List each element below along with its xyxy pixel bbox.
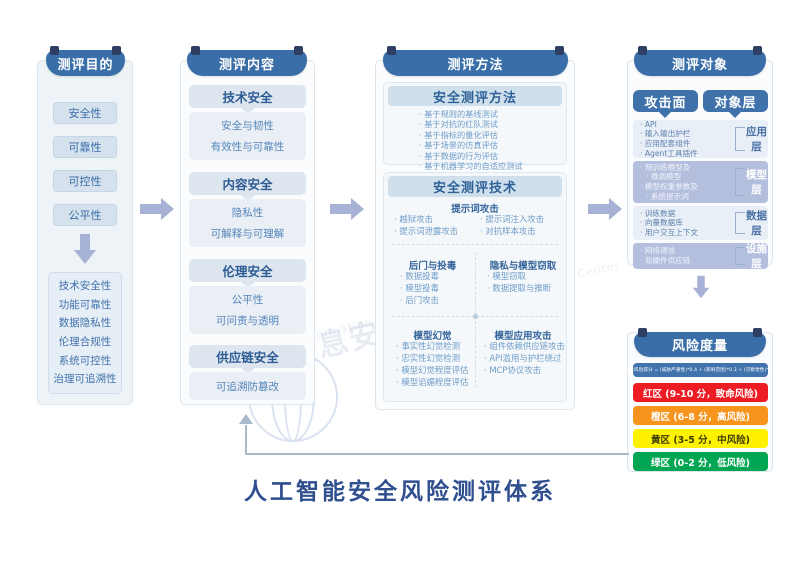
pill-可控性[interactable]: 可控性 [53,170,117,192]
pill-label: 安全性 [69,105,102,121]
content-group-title-伦理安全: 伦理安全 [189,259,306,282]
risk-zone-green: 绿区 (0-2 分，低风险) [633,452,768,471]
tab-attack-surface[interactable]: 攻击面 [633,90,698,112]
prompt-attack-right-list: 提示词注入攻击 对抗样本攻击 [480,213,544,237]
object-layer-label: 应用层 [745,124,768,154]
group-label: 内容安全 [222,174,272,193]
risk-zone-yellow: 黄区 (3-5 分，中风险) [633,429,768,448]
attack-item: 提示词泄露攻击 [394,225,458,237]
content-group-title-内容安全: 内容安全 [189,172,306,195]
object-row-应用层: API 输入输出护栏 应用配套组件 Agent工具插件 应用层 [633,120,768,158]
object-item: 训练数据 [640,209,735,219]
object-item: 应用配套组件 [640,139,735,149]
risk-formula-label: 综合风险得分 = (威胁严重性)*0.4 + (影响范围)*0.3 + (可察觉… [625,367,777,373]
arrow-content-to-method [330,198,364,220]
header-object-label: 测评对象 [672,54,728,73]
content-item: 可问责与透明 [216,313,279,328]
group-label: 供应链安全 [216,347,279,366]
output-item: 技术安全性 [59,281,112,292]
risk-formula: 综合风险得分 = (威胁严重性)*0.4 + (影响范围)*0.3 + (可察觉… [633,363,768,377]
diagram-canvas: 中国信息安全测评中心 China Information Technology … [0,0,800,563]
object-item: 系统提示词 [640,192,735,202]
risk-zone-orange: 橙区 (6-8 分，高风险) [633,406,768,425]
pill-公平性[interactable]: 公平性 [53,204,117,226]
object-row-数据层: 训练数据 向量数据库 用户交互上下文 数据层 [633,206,768,240]
object-item: Agent工具插件 [640,149,735,159]
attack-item: 后门攻击 [400,294,439,306]
quadrant-list-hallucination: 事实性幻觉检测 忠实性幻觉检测 模型幻觉程度评估 模型谄媚程度评估 [396,340,468,388]
tab-label: 对象层 [714,92,756,111]
object-item: 预训练模型及 [640,163,735,173]
method-item: 基于对抗的红队测试 [419,119,522,129]
divider [392,244,558,245]
quadrant-list-backdoor: 数据投毒 模型投毒 后门攻击 [400,270,439,306]
attack-item: 数据提取与推断 [487,282,551,294]
header-method: 测评方法 [383,50,568,76]
object-row-items: 预训练模型及 微调模型 模型权重参数及 系统提示词 [633,163,735,201]
attack-item: 越狱攻击 [394,213,458,225]
header-ear-right [555,46,564,55]
object-item: API [640,120,735,130]
header-risk-label: 风险度量 [672,335,728,354]
method-item: 基于场景的仿真评估 [419,140,522,150]
content-group-title-技术安全: 技术安全 [189,85,306,108]
content-item: 可解释与可理解 [211,226,285,241]
tab-object-layer[interactable]: 对象层 [703,90,768,112]
header-content: 测评内容 [187,50,307,76]
object-row-items: API 输入输出护栏 应用配套组件 Agent工具插件 [633,120,735,158]
header-risk: 风险度量 [634,332,766,357]
output-item: 功能可靠性 [59,300,112,311]
down-arrow-object-to-risk [693,276,710,299]
object-item: 输入输出护栏 [640,129,735,139]
method-item: 基于指标的量化评估 [419,130,522,140]
content-group-items-供应链安全: 可追溯防篡改 [189,372,306,400]
object-layer-label: 设施层 [745,241,768,271]
notch [659,112,671,118]
panel-title-label: 安全测评方法 [433,87,517,106]
zone-label: 红区 (9-10 分，致命风险) [643,386,758,400]
feedback-arrow-head [239,414,253,424]
group-label: 伦理安全 [222,261,272,280]
output-item: 治理可追溯性 [54,374,117,385]
attack-item: 事实性幻觉检测 [396,340,468,352]
attack-item: 模型谄媚程度评估 [396,376,468,388]
attack-item: 提示词注入攻击 [480,213,544,225]
arrow-method-to-object [588,198,622,220]
purpose-outputs: 技术安全性 功能可靠性 数据隐私性 伦理合规性 系统可控性 治理可追溯性 [48,272,122,394]
panel-title-methods: 安全测评方法 [388,86,562,106]
bracket-icon [735,168,745,195]
object-item: 用户交互上下文 [640,228,735,238]
object-item: 模型权重参数及 [640,182,735,192]
content-item: 安全与韧性 [221,118,274,133]
object-layer-label: 数据层 [745,208,768,238]
header-ear-right [294,46,303,55]
arrow-purpose-to-content [140,198,174,220]
object-row-items: 训练数据 向量数据库 用户交互上下文 [633,209,735,238]
object-item: 微调模型 [640,172,735,182]
prompt-attack-left-list: 越狱攻击 提示词泄露攻击 [394,213,458,237]
pill-安全性[interactable]: 安全性 [53,102,117,124]
object-item: 软硬件供应链 [640,256,735,266]
quadrant-list-privacy: 模型窃取 数据提取与推断 [487,270,551,294]
content-group-items-技术安全: 安全与韧性 有效性与可靠性 [189,112,306,160]
tab-label: 攻击面 [644,92,686,111]
down-arrow-icon [74,234,96,264]
method-item: 基于规则的基线测试 [419,109,522,119]
pill-label: 可控性 [69,173,102,189]
method-item: 基于数据的行为评估 [419,151,522,161]
divider-dot [473,314,478,319]
object-layer-label: 模型层 [745,167,768,197]
header-ear-right [753,328,762,337]
header-purpose-label: 测评目的 [57,54,113,73]
quadrant-list-app-attack: 组件依赖供应链攻击 API滥用与护栏绕过 MCP协议攻击 [484,340,565,376]
page-title: 人工智能安全风险测评体系 [0,472,800,506]
object-row-items: 网络通信 软硬件供应链 [633,246,735,265]
header-purpose: 测评目的 [46,50,125,76]
output-item: 伦理合规性 [59,337,112,348]
attack-item: 忠实性幻觉检测 [396,352,468,364]
attack-item: 模型投毒 [400,282,439,294]
attack-item: 模型窃取 [487,270,551,282]
content-group-items-伦理安全: 公平性 可问责与透明 [189,286,306,334]
header-object: 测评对象 [634,50,766,76]
feedback-line-vertical [245,425,249,455]
zone-label: 橙区 (6-8 分，高风险) [651,409,750,423]
bracket-icon [735,127,745,152]
content-group-items-内容安全: 隐私性 可解释与可理解 [189,199,306,247]
header-ear-left [387,46,396,55]
zone-label: 黄区 (3-5 分，中风险) [651,432,750,446]
attack-item: 数据投毒 [400,270,439,282]
attack-item: API滥用与护栏绕过 [484,352,565,364]
object-item: 网络通信 [640,246,735,256]
attack-item: 对抗样本攻击 [480,225,544,237]
risk-zone-red: 红区 (9-10 分，致命风险) [633,383,768,402]
object-row-模型层: 预训练模型及 微调模型 模型权重参数及 系统提示词 模型层 [633,161,768,203]
attack-item: MCP协议攻击 [484,364,565,376]
divider [475,252,476,388]
content-item: 有效性与可靠性 [211,139,285,154]
pill-可靠性[interactable]: 可靠性 [53,136,117,158]
header-ear-right [753,46,762,55]
attack-item: 模型幻觉程度评估 [396,364,468,376]
group-label: 技术安全 [222,87,272,106]
object-item: 向量数据库 [640,218,735,228]
panel-title-tech: 安全测评技术 [388,176,562,197]
method-list: 基于规则的基线测试 基于对抗的红队测试 基于指标的量化评估 基于场景的仿真评估 … [419,109,522,182]
bracket-icon [735,247,745,265]
output-item: 系统可控性 [59,356,112,367]
notch [729,112,741,118]
pill-label: 可靠性 [69,139,102,155]
feedback-line-horizontal [247,453,629,455]
header-ear-left [191,46,200,55]
attack-item: 组件依赖供应链攻击 [484,340,565,352]
object-row-设施层: 网络通信 软硬件供应链 设施层 [633,243,768,269]
header-ear-left [638,328,647,337]
content-item: 可追溯防篡改 [216,379,279,394]
pill-label: 公平性 [69,207,102,223]
panel-title-label: 安全测评技术 [433,177,517,196]
header-method-label: 测评方法 [447,54,503,73]
zone-label: 绿区 (0-2 分，低风险) [651,455,750,469]
content-item: 隐私性 [232,205,264,220]
output-item: 数据隐私性 [59,318,112,329]
content-item: 公平性 [232,292,264,307]
header-content-label: 测评内容 [219,54,275,73]
method-item: 基于机器学习的自适应测试 [419,161,522,171]
bracket-icon [735,212,745,234]
header-ear-left [638,46,647,55]
content-group-title-供应链安全: 供应链安全 [189,345,306,368]
